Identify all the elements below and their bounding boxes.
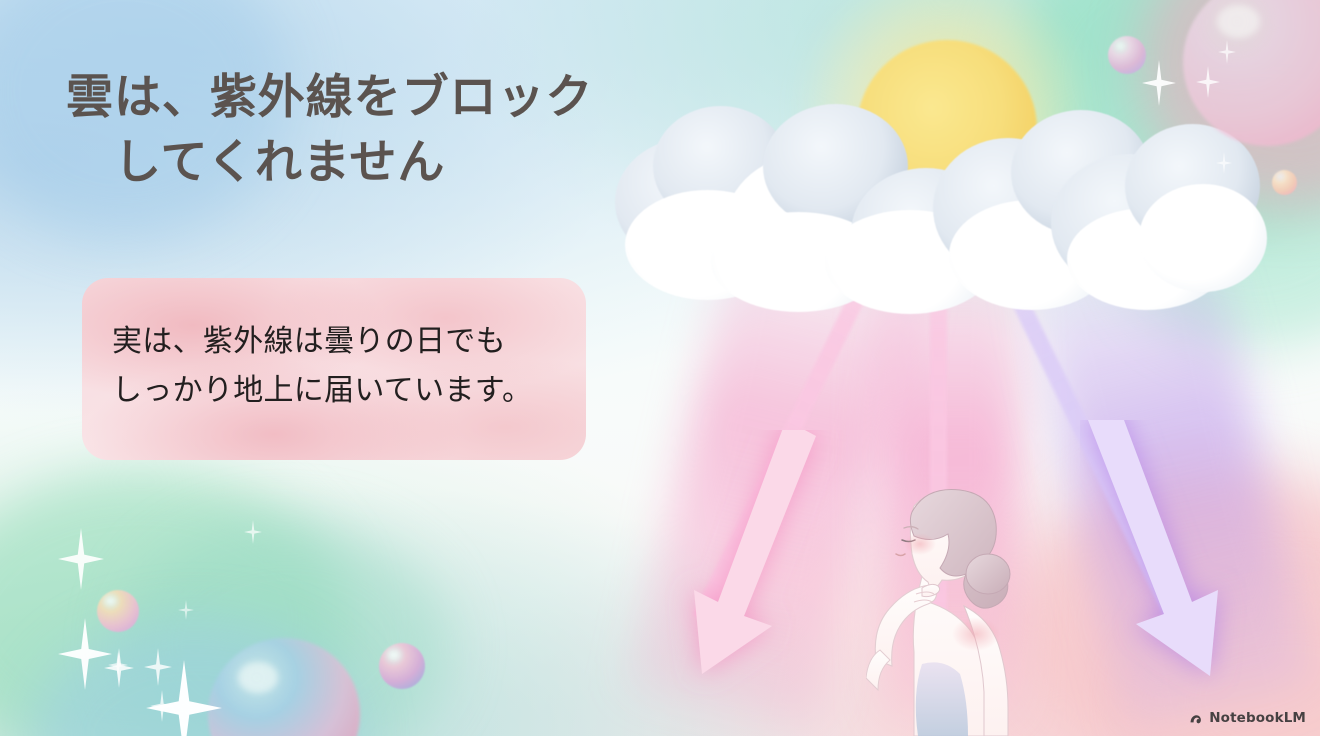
uv-arrow-left (640, 430, 900, 700)
notebooklm-logo-icon (1189, 711, 1204, 726)
bubble-top-right-small (1108, 36, 1146, 74)
bubble-top-right-tiny (1272, 170, 1297, 195)
notebooklm-watermark: NotebookLM (1189, 710, 1306, 726)
bubble-bottom-left-large (208, 638, 360, 736)
cloud-puff (1139, 184, 1267, 292)
callout-text: 実は、紫外線は曇りの日でも しっかり地上に届いています。 (112, 318, 582, 415)
bubble-bottom-right-sm (379, 643, 425, 689)
notebooklm-watermark-label: NotebookLM (1209, 710, 1306, 726)
sparkle-icon (58, 618, 112, 690)
bubble-bottom-left-mid (97, 590, 139, 632)
sparkle-icon (244, 520, 262, 544)
sparkle-icon (144, 648, 172, 686)
sparkle-icon (178, 600, 194, 620)
uv-arrow-right (1080, 420, 1320, 700)
sparkle-icon (58, 528, 104, 590)
page-title: 雲は、紫外線をブロック してくれません (66, 66, 726, 196)
sparkle-icon (108, 652, 128, 678)
slide-canvas: 実は、紫外線は曇りの日でも しっかり地上に届いています。 雲は、紫外線をブロック… (0, 0, 1320, 736)
sparkle-icon (150, 690, 174, 722)
